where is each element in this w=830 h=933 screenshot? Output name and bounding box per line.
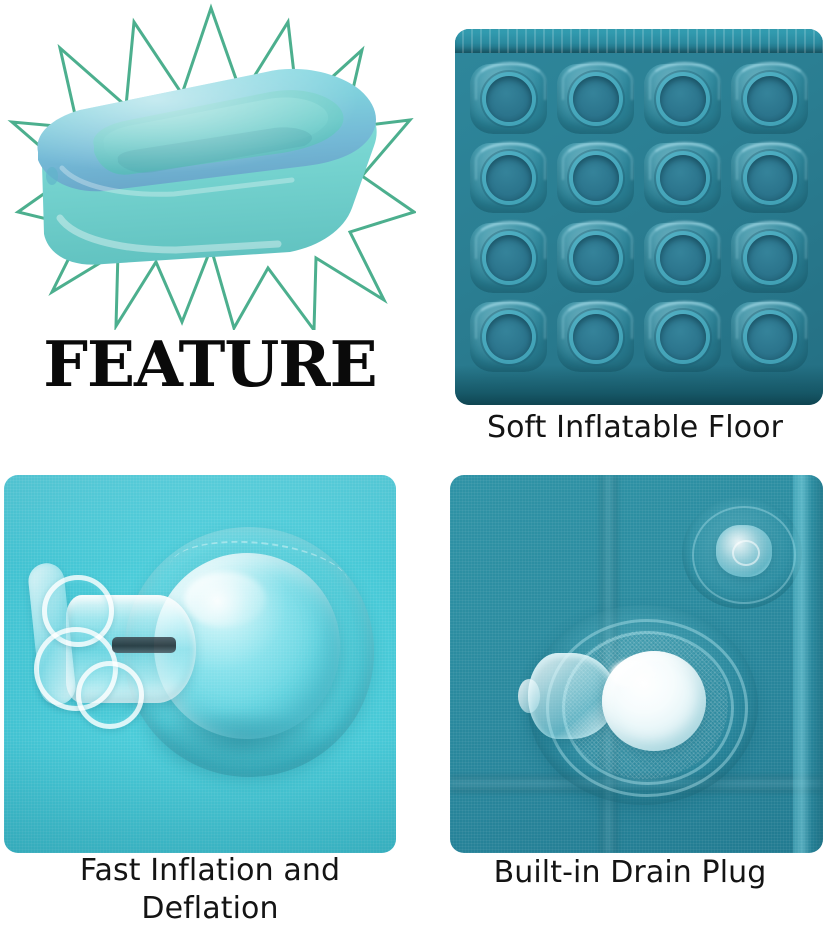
floor-dimple — [660, 155, 706, 201]
floor-dimple — [486, 155, 532, 201]
floor-top-lip — [455, 29, 823, 53]
drain-plug-panel: Built-in Drain Plug — [430, 460, 830, 933]
drain-plug-photo — [450, 475, 823, 853]
floor-dimple — [573, 155, 619, 201]
floor-dimple — [747, 314, 793, 360]
floor-dimple — [747, 76, 793, 122]
valve-caption: Fast Inflation and Deflation — [0, 852, 420, 929]
secondary-valve-cap — [716, 525, 772, 577]
fast-inflation-panel: Fast Inflation and Deflation — [0, 460, 420, 933]
floor-dimple — [747, 155, 793, 201]
floor-dimple — [660, 235, 706, 281]
floor-dimple — [573, 314, 619, 360]
floor-dimple — [573, 235, 619, 281]
valve-caption-line-2: Deflation — [0, 890, 420, 928]
pool-edge-highlight — [793, 475, 823, 853]
floor-bottom-lip — [455, 365, 823, 405]
drain-plug-cap — [602, 651, 706, 751]
dimple-grid — [465, 59, 813, 377]
page-title: FEATURE — [0, 333, 420, 396]
floor-dimple — [660, 314, 706, 360]
drain-caption: Built-in Drain Plug — [430, 854, 830, 892]
drain-caption-line-1: Built-in Drain Plug — [430, 854, 830, 892]
valve-caption-line-1: Fast Inflation and — [0, 852, 420, 890]
floor-dimple — [486, 76, 532, 122]
floor-dimple — [486, 235, 532, 281]
infographic-sheet: FEATURE — [0, 0, 830, 933]
floor-dimple — [747, 235, 793, 281]
floor-dimple — [486, 314, 532, 360]
floor-dimple — [660, 76, 706, 122]
floor-caption: Soft Inflatable Floor — [440, 409, 830, 447]
feature-title-panel: FEATURE — [0, 0, 420, 455]
photo-vignette — [4, 475, 396, 853]
soft-inflatable-floor-panel: Soft Inflatable Floor — [440, 0, 830, 455]
inflatable-pool-product-image — [8, 68, 408, 278]
inflatable-floor-photo — [455, 29, 823, 405]
inflation-valve-photo — [4, 475, 396, 853]
floor-dimple — [573, 76, 619, 122]
